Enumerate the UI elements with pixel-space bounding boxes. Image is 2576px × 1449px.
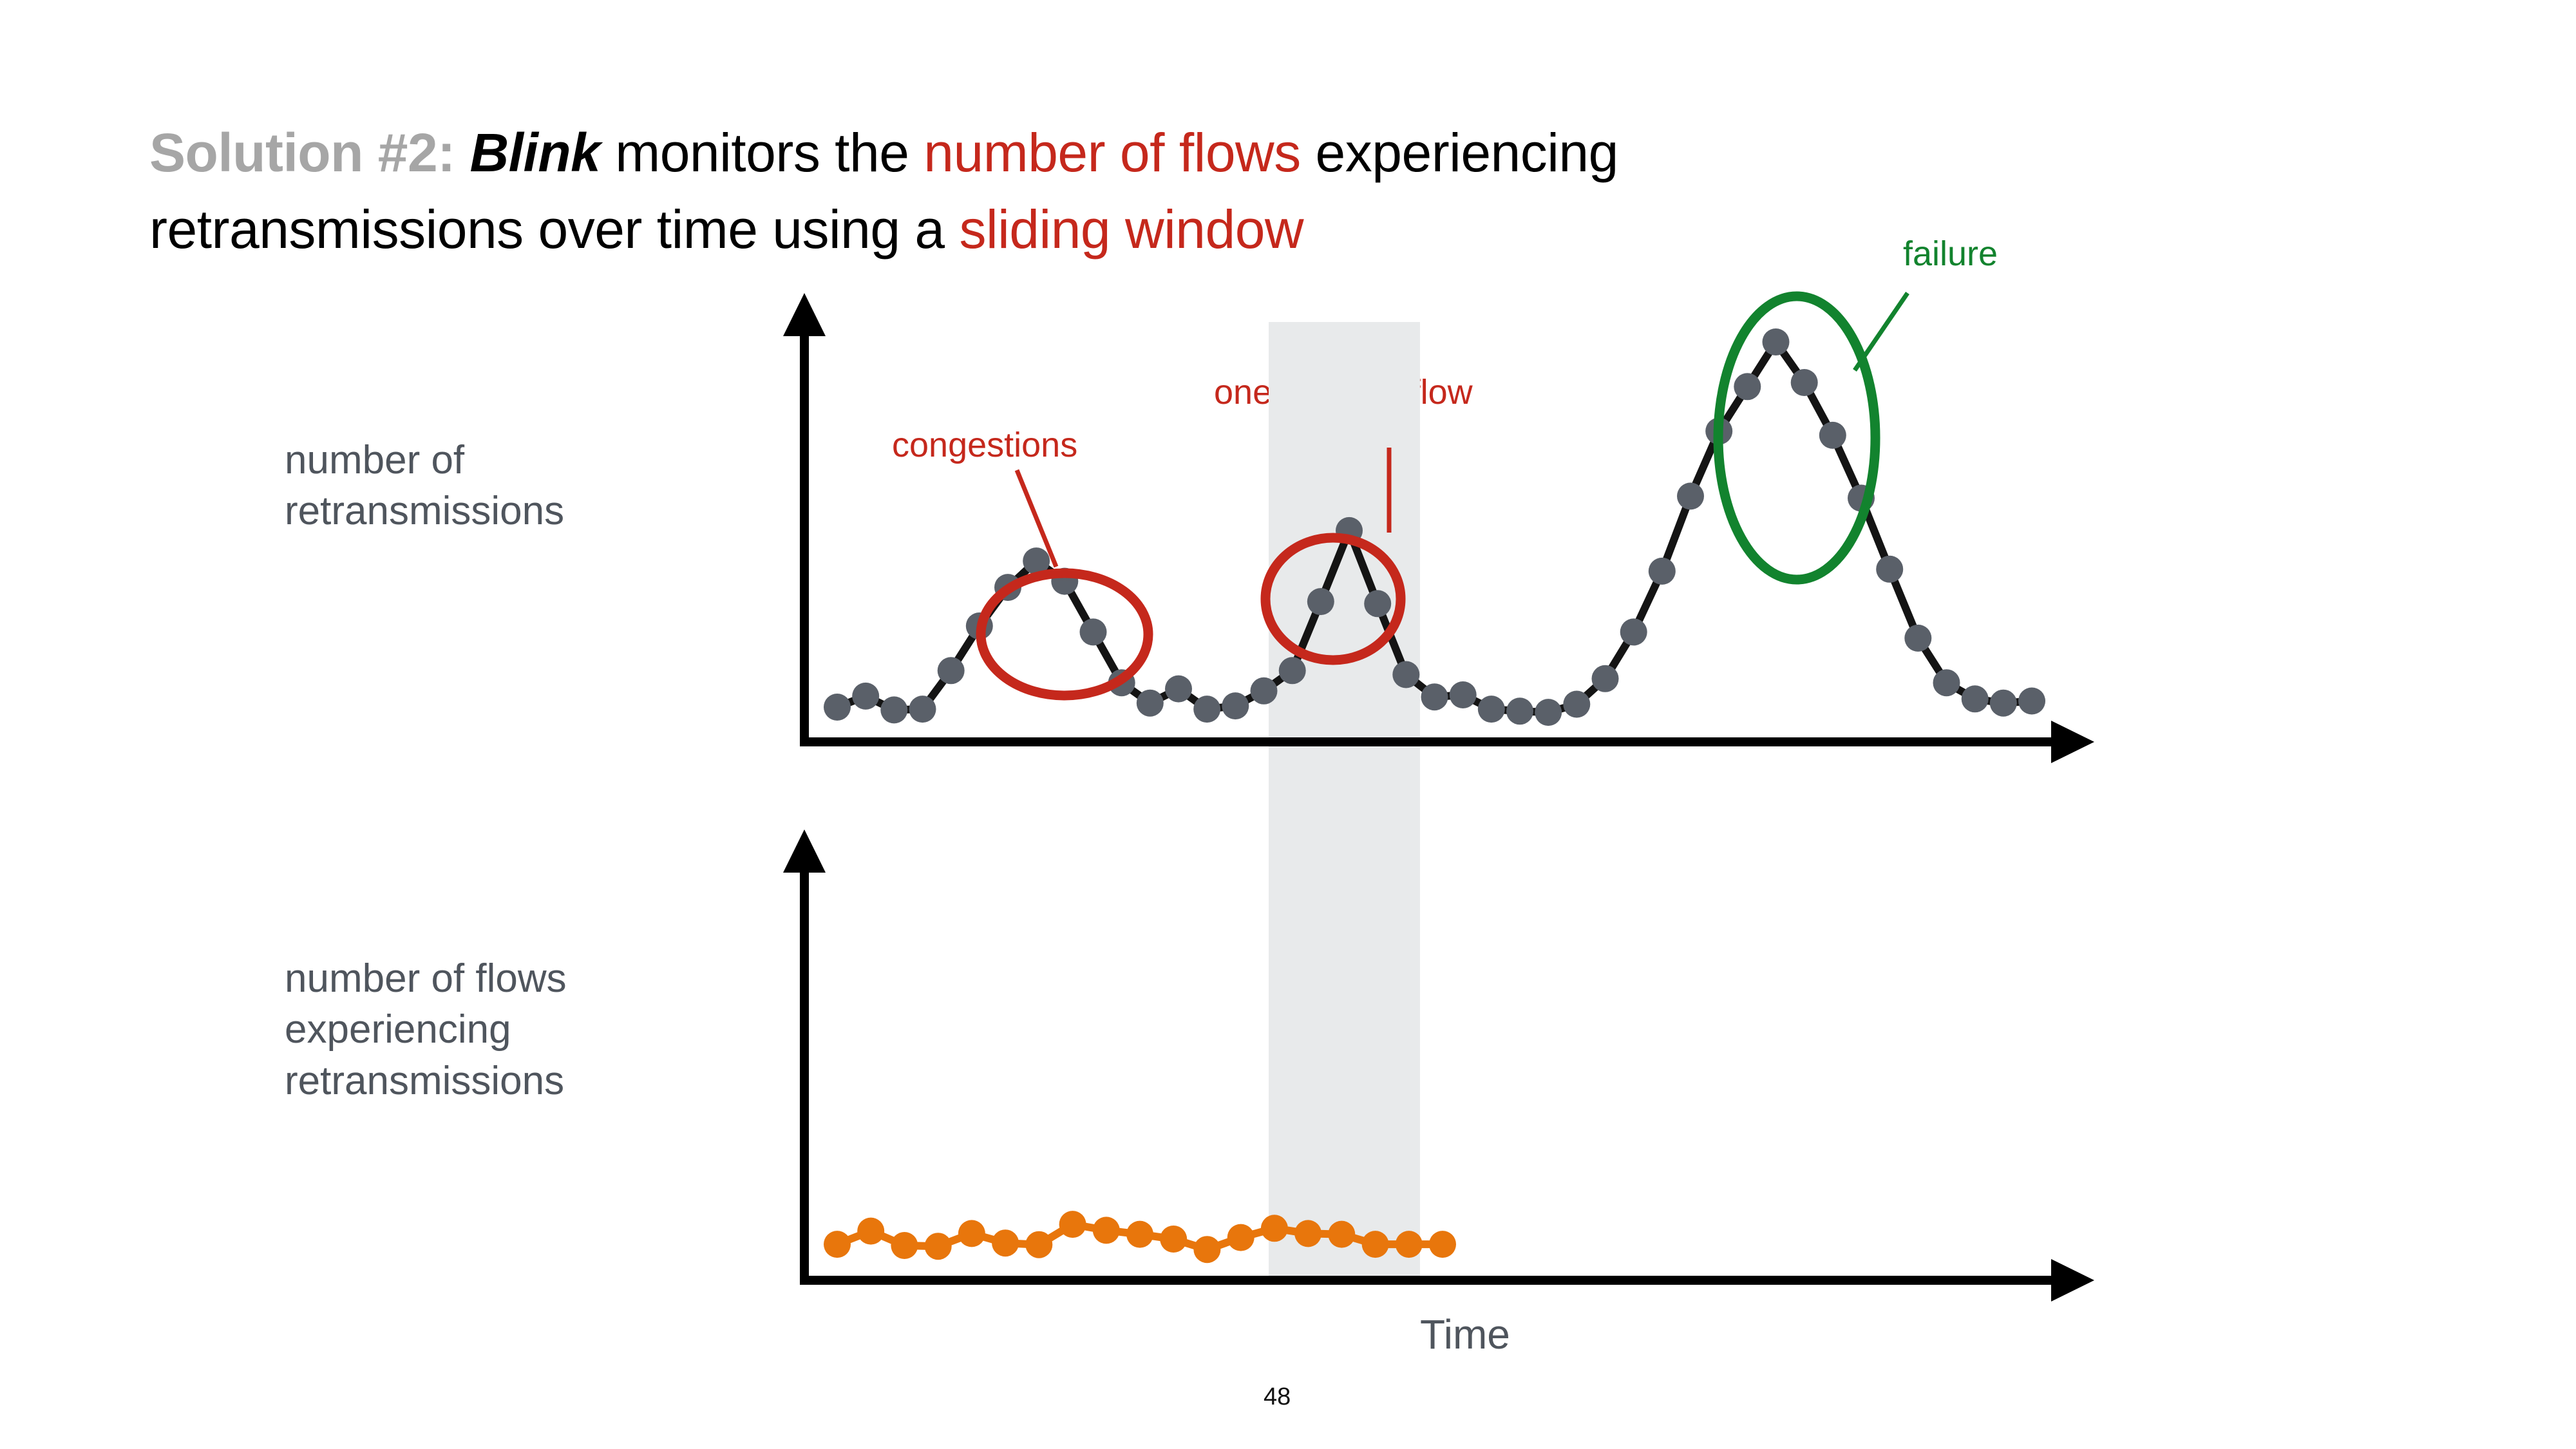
data-point-marker — [1336, 517, 1363, 544]
data-point-marker — [1126, 1221, 1153, 1248]
page-number: 48 — [1264, 1383, 1291, 1411]
chart1-y-axis-label: number of retransmissions — [285, 435, 564, 537]
data-point-marker — [1763, 328, 1790, 355]
slide-title: Solution #2: Blink monitors the number o… — [149, 115, 2210, 269]
data-point-marker — [1392, 661, 1419, 688]
data-point-marker — [1791, 369, 1818, 396]
data-point-marker — [1193, 1236, 1220, 1263]
data-point-marker — [1364, 590, 1391, 617]
data-point-marker — [1222, 692, 1249, 719]
annotation-label-congestions: congestions — [892, 425, 1077, 465]
annotation-label-bogus-flow: one "bogus" flow — [1214, 372, 1473, 412]
data-point-marker — [1251, 677, 1278, 705]
data-point-marker — [1933, 669, 1960, 696]
title-line2-pre: retransmissions over time using a — [149, 199, 959, 260]
title-highlight-1: number of flows — [923, 122, 1300, 183]
data-point-marker — [1848, 485, 1875, 512]
data-point-marker — [1051, 568, 1078, 595]
data-point-marker — [925, 1233, 952, 1260]
x-axis-label-time: Time — [1420, 1311, 1510, 1358]
data-point-marker — [1819, 422, 1846, 449]
data-point-marker — [857, 1218, 884, 1245]
data-point-marker — [1108, 669, 1135, 696]
data-point-marker — [1025, 1231, 1052, 1258]
data-point-marker — [1362, 1231, 1389, 1258]
data-point-marker — [994, 574, 1021, 601]
data-point-marker — [1904, 625, 1931, 652]
data-point-marker — [1165, 676, 1192, 703]
data-point-marker — [1421, 683, 1448, 710]
data-point-marker — [966, 612, 993, 639]
data-point-marker — [824, 694, 851, 721]
data-point-marker — [1876, 556, 1903, 583]
data-point-marker — [1734, 373, 1761, 400]
data-point-marker — [1227, 1224, 1255, 1251]
data-point-marker — [1649, 558, 1676, 585]
data-point-marker — [824, 1231, 851, 1258]
annotation-bogus-flow — [1265, 448, 1401, 660]
data-point-marker — [1705, 418, 1732, 445]
data-point-marker — [891, 1232, 918, 1259]
sliding-window-band — [1269, 322, 1420, 1282]
data-point-marker — [1478, 696, 1505, 723]
chart2-axes — [783, 829, 2094, 1302]
annotation-failure — [1718, 293, 1908, 580]
data-polyline — [837, 1224, 1443, 1249]
data-point-marker — [1962, 685, 1989, 712]
title-highlight-2: sliding window — [959, 199, 1303, 260]
data-point-marker — [1450, 681, 1477, 708]
annotation-label-failure: failure — [1903, 234, 1998, 274]
data-point-marker — [1093, 1217, 1120, 1244]
data-point-marker — [1563, 691, 1590, 718]
data-point-marker — [1592, 665, 1619, 692]
data-point-marker — [1261, 1215, 1288, 1242]
annotation-congestions — [981, 470, 1148, 696]
data-point-marker — [1307, 588, 1334, 615]
data-point-marker — [958, 1220, 985, 1247]
data-point-marker — [1193, 696, 1220, 723]
title-brand: Blink — [470, 122, 601, 183]
data-point-marker — [1160, 1226, 1187, 1253]
data-point-marker — [1059, 1211, 1086, 1238]
data-point-marker — [938, 657, 965, 684]
data-point-marker — [1677, 482, 1704, 509]
data-point-marker — [992, 1229, 1019, 1256]
chart2-y-axis-label: number of flows experiencing retransmiss… — [285, 953, 567, 1106]
data-point-marker — [1396, 1231, 1423, 1258]
data-point-marker — [909, 696, 936, 723]
data-point-marker — [880, 696, 907, 723]
data-point-marker — [1429, 1231, 1456, 1258]
chart1-axes — [783, 293, 2094, 763]
data-point-marker — [1328, 1221, 1355, 1248]
title-prefix: Solution #2: — [149, 122, 455, 183]
data-point-marker — [1294, 1220, 1321, 1247]
data-point-marker — [1506, 697, 1533, 724]
data-point-marker — [1137, 690, 1164, 717]
data-point-marker — [1279, 657, 1306, 684]
chart2-data-series — [824, 1211, 1456, 1263]
title-mid-2: experiencing — [1301, 122, 1618, 183]
title-mid-1: monitors the — [600, 122, 923, 183]
data-point-marker — [1990, 690, 2017, 717]
data-point-marker — [852, 683, 879, 710]
data-point-marker — [1023, 547, 1050, 574]
data-point-marker — [1620, 618, 1647, 645]
data-point-marker — [1080, 618, 1107, 645]
data-point-marker — [2018, 688, 2045, 715]
data-point-marker — [1535, 699, 1562, 726]
